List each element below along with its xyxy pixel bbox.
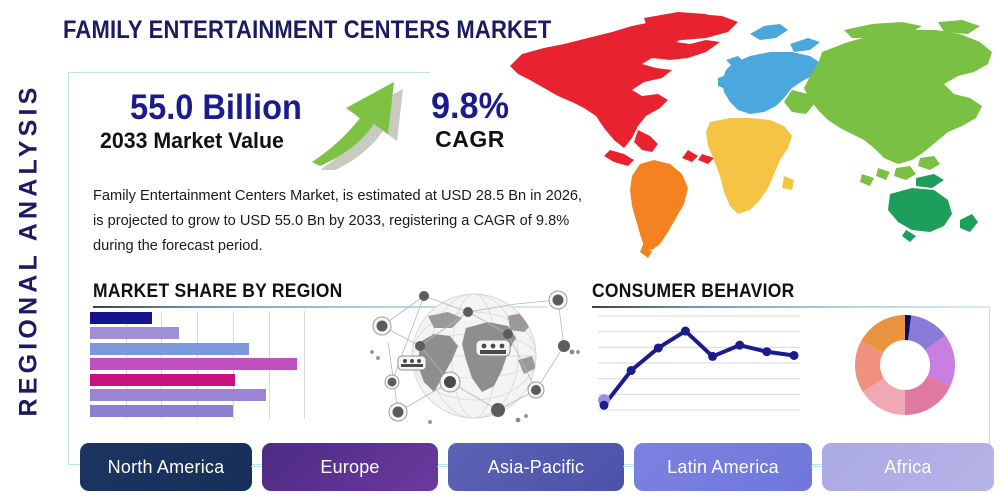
region-button-north-america[interactable]: North America <box>80 443 252 491</box>
bar-chart-bar <box>90 374 235 386</box>
bar-fill <box>90 312 152 324</box>
region-button-europe[interactable]: Europe <box>262 443 438 491</box>
side-label-text: REGIONAL ANALYSIS <box>15 83 44 416</box>
regional-donut-chart <box>848 308 962 422</box>
line-chart-marker <box>600 401 609 410</box>
line-chart-marker <box>654 343 663 352</box>
bar-chart-bar <box>90 312 152 324</box>
region-nav-bar[interactable]: North AmericaEuropeAsia-PacificLatin Ame… <box>80 443 992 491</box>
page-title: FAMILY ENTERTAINMENT CENTERS MARKET <box>63 16 552 45</box>
bar-chart-bar <box>90 389 266 401</box>
description-paragraph: Family Entertainment Centers Market, is … <box>93 184 593 259</box>
bar-fill <box>90 327 179 339</box>
bar-fill <box>90 343 249 355</box>
bar-chart-bar <box>90 405 233 417</box>
section-consumer-behavior-title: CONSUMER BEHAVIOR <box>592 281 794 303</box>
region-button-africa[interactable]: Africa <box>822 443 994 491</box>
kpi-cagr: 9.8% CAGR <box>405 88 535 168</box>
line-chart-marker <box>681 327 690 336</box>
line-chart-marker <box>735 341 744 350</box>
region-button-label: Europe <box>320 457 379 478</box>
section-market-share: MARKET SHARE BY REGION <box>93 281 308 308</box>
line-chart-marker <box>762 347 771 356</box>
bar-fill <box>90 358 297 370</box>
infographic-root: REGIONAL ANALYSIS FAMILY ENTERTAINMENT C… <box>0 0 1000 500</box>
section-consumer-behavior: CONSUMER BEHAVIOR <box>592 281 812 308</box>
kpi-value-text: 55.0 Billion <box>130 88 302 128</box>
line-chart-marker <box>627 366 636 375</box>
vertical-side-label: REGIONAL ANALYSIS <box>0 0 60 500</box>
bar-fill <box>90 374 235 386</box>
consumer-behavior-line-chart <box>598 310 800 418</box>
bar-chart-bar <box>90 358 297 370</box>
section-market-share-title: MARKET SHARE BY REGION <box>93 281 291 303</box>
bar-chart-bar <box>90 343 249 355</box>
region-button-label: Africa <box>884 457 931 478</box>
line-chart-marker <box>790 351 799 360</box>
bar-fill <box>90 389 266 401</box>
bar-fill <box>90 405 233 417</box>
global-network-globe-icon <box>368 282 580 430</box>
region-button-label: North America <box>108 457 225 478</box>
line-chart-marker <box>708 352 717 361</box>
bar-chart-bar <box>90 327 179 339</box>
bar-chart-gridline <box>304 311 305 419</box>
region-button-label: Latin America <box>667 457 779 478</box>
market-share-bar-chart <box>90 311 345 419</box>
region-button-latin-america[interactable]: Latin America <box>634 443 812 491</box>
region-button-asia-pacific[interactable]: Asia-Pacific <box>448 443 624 491</box>
kpi-cagr-caption: CAGR <box>405 124 535 154</box>
kpi-caption-text: 2033 Market Value <box>100 128 284 154</box>
kpi-cagr-value: 9.8% <box>408 88 532 124</box>
region-button-label: Asia-Pacific <box>488 457 584 478</box>
growth-arrow-icon <box>310 78 420 170</box>
